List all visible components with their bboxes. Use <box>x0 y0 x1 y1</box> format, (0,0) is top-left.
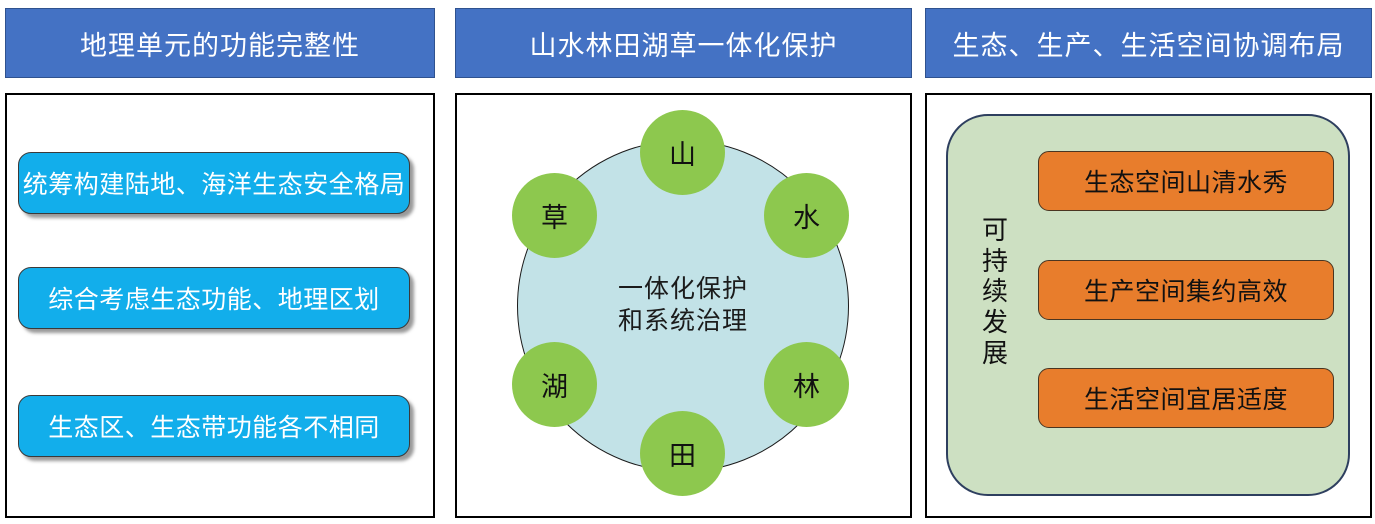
panel-3-body: 可 持 续 发 展 生态空间山清水秀 生产空间集约高效 生活空间宜居适度 <box>925 93 1372 518</box>
vertical-char-1: 持 <box>976 247 1014 278</box>
panel-3-header: 生态、生产、生活空间协调布局 <box>925 8 1372 78</box>
node-circle-tian-label: 田 <box>669 434 696 473</box>
node-circle-hu[interactable]: 湖 <box>512 342 597 427</box>
panel-3-item-0[interactable]: 生态空间山清水秀 <box>1038 151 1334 211</box>
panel-space-layout: 生态、生产、生活空间协调布局 可 持 续 发 展 生态空间山清水秀 生产空间集约… <box>925 0 1372 524</box>
panel-geographic-unit: 地理单元的功能完整性 统筹构建陆地、海洋生态安全格局 综合考虑生态功能、地理区划… <box>5 0 435 524</box>
center-circle-line-1: 一体化保护 <box>618 274 748 307</box>
vertical-char-2: 续 <box>976 277 1014 308</box>
node-circle-cao-label: 草 <box>541 196 568 235</box>
panel-1-item-2[interactable]: 生态区、生态带功能各不相同 <box>18 395 410 457</box>
node-circle-hu-label: 湖 <box>541 365 568 404</box>
node-circle-shui[interactable]: 水 <box>764 173 849 258</box>
node-circle-lin[interactable]: 林 <box>764 342 849 427</box>
panel-2-header: 山水林田湖草一体化保护 <box>455 8 912 78</box>
panel-1-item-1[interactable]: 综合考虑生态功能、地理区划 <box>18 267 410 329</box>
node-circle-cao[interactable]: 草 <box>512 173 597 258</box>
node-circle-shan[interactable]: 山 <box>640 110 725 195</box>
panel-integrated-protection: 山水林田湖草一体化保护 一体化保护 和系统治理 山 水 林 田 <box>455 0 912 524</box>
node-circle-shui-label: 水 <box>793 196 820 235</box>
center-circle-line-2: 和系统治理 <box>618 306 748 339</box>
panel-2-body: 一体化保护 和系统治理 山 水 林 田 湖 草 <box>455 93 912 518</box>
panel-1-item-0[interactable]: 统筹构建陆地、海洋生态安全格局 <box>18 152 410 214</box>
vertical-char-0: 可 <box>976 216 1014 247</box>
panel-1-header: 地理单元的功能完整性 <box>5 8 435 78</box>
panel-3-item-2[interactable]: 生活空间宜居适度 <box>1038 368 1334 428</box>
vertical-char-3: 发 <box>976 308 1014 339</box>
circle-diagram: 一体化保护 和系统治理 山 水 林 田 湖 草 <box>457 95 910 516</box>
node-circle-lin-label: 林 <box>793 365 820 404</box>
sustainable-development-label: 可 持 续 发 展 <box>976 216 1014 369</box>
node-circle-shan-label: 山 <box>669 133 696 172</box>
panel-1-body: 统筹构建陆地、海洋生态安全格局 综合考虑生态功能、地理区划 生态区、生态带功能各… <box>5 93 435 518</box>
node-circle-tian[interactable]: 田 <box>640 411 725 496</box>
sustainable-development-container: 可 持 续 发 展 生态空间山清水秀 生产空间集约高效 生活空间宜居适度 <box>946 114 1350 496</box>
panel-3-item-1[interactable]: 生产空间集约高效 <box>1038 260 1334 320</box>
vertical-char-4: 展 <box>976 339 1014 370</box>
